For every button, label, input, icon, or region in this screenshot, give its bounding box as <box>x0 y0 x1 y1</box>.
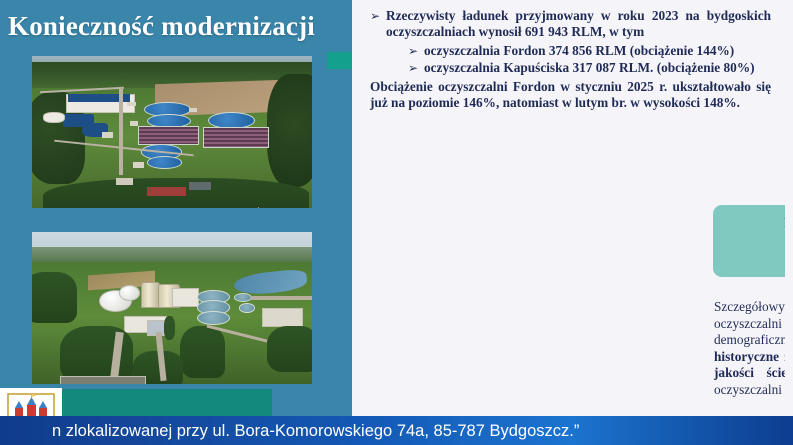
left-panel: Konieczność modernizacji <box>0 0 352 445</box>
bullet-marker-icon: ➢ <box>408 60 418 76</box>
bullet-marker-icon: ➢ <box>370 8 380 24</box>
bullet-item-3-text: oczyszczalnia Kapuściska 317 087 RLM. (o… <box>424 60 755 75</box>
right-content-panel: ➢ Rzeczywisty ładunek przyjmowany w roku… <box>352 0 793 445</box>
bottom-caption-text: n zlokalizowanej przy ul. Bora-Komorowsk… <box>52 419 579 443</box>
right-margin-strip <box>785 0 793 445</box>
bullet-item-1: ➢ Rzeczywisty ładunek przyjmowany w roku… <box>386 8 771 41</box>
para2-regular-1: Szczegółowy bilans ilości i jakości ście… <box>714 299 793 347</box>
bullet-item-3: ➢ oczyszczalnia Kapuściska 317 087 RLM. … <box>424 60 771 76</box>
forecast-callout-box: Przygotowane przez MWiK prognozy wykazuj… <box>713 205 793 277</box>
paragraph-fordon-load: Obciążenie oczyszczalni Fordon w styczni… <box>370 79 771 112</box>
bullet-item-2-text: oczyszczalnia Fordon 374 856 RLM (obciąż… <box>424 43 734 58</box>
aerial-photo-top <box>32 56 312 208</box>
mouse-cursor <box>258 206 267 208</box>
slide-canvas: Konieczność modernizacji <box>0 0 793 445</box>
page-title: Konieczność modernizacji <box>8 6 344 46</box>
paragraph-balance-forecast: Szczegółowy bilans ilości i jakości ście… <box>714 299 793 399</box>
accent-green-block <box>327 52 352 69</box>
aerial-photo-bottom <box>32 232 312 384</box>
bullet-marker-icon: ➢ <box>408 43 418 59</box>
bottom-caption-banner: n zlokalizowanej przy ul. Bora-Komorowsk… <box>0 416 793 445</box>
bullet-list: ➢ Rzeczywisty ładunek przyjmowany w roku… <box>360 8 785 111</box>
bullet-item-1-text: Rzeczywisty ładunek przyjmowany w roku 2… <box>386 8 771 39</box>
bullet-item-2: ➢ oczyszczalnia Fordon 374 856 RLM (obci… <box>424 43 771 59</box>
